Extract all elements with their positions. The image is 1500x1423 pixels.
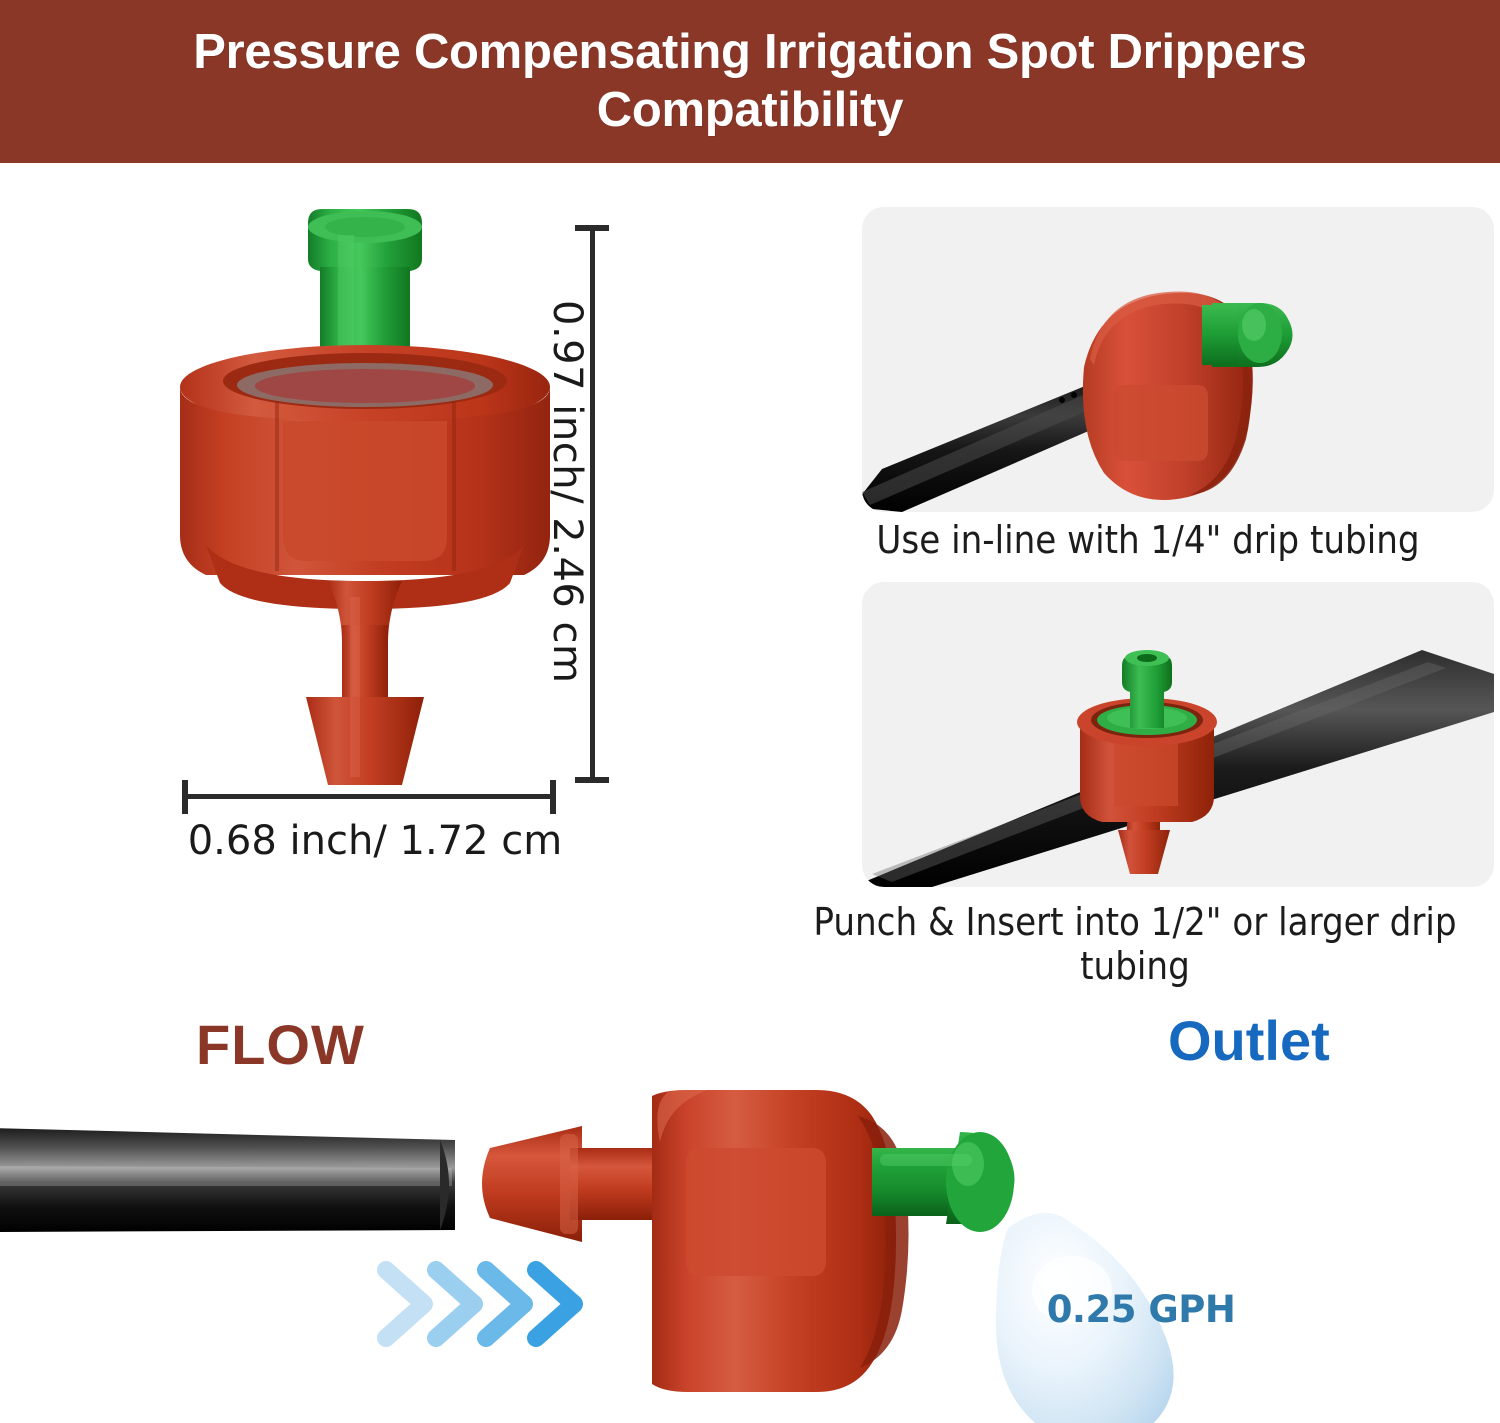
dimension-line-horizontal (182, 794, 556, 799)
use-in-line-caption: Use in-line with 1/4" drip tubing (798, 518, 1498, 562)
flow-direction-chevrons (386, 1270, 574, 1338)
flow-rate-label: 0.25 GPH (1010, 1288, 1272, 1331)
red-inlet-barb-bottom (482, 1126, 658, 1242)
dripper-body-bottom (652, 1090, 909, 1392)
dimension-width-label: 0.68 inch/ 1.72 cm (175, 818, 575, 864)
dimension-height-label: 0.97 inch/ 2.46 cm (544, 300, 590, 684)
header-banner: Pressure Compensating Irrigation Spot Dr… (0, 0, 1500, 163)
product-figure (150, 205, 580, 805)
dimension-cap-right (550, 780, 556, 814)
dimension-cap-left (182, 780, 188, 814)
punch-insert-illustration (862, 582, 1494, 887)
dimension-cap-bottom (575, 777, 609, 783)
outlet-label: Outlet (1168, 1008, 1330, 1073)
dimension-cap-top (575, 225, 609, 231)
page-title: Pressure Compensating Irrigation Spot Dr… (80, 24, 1420, 140)
black-drip-tubing (0, 1128, 455, 1232)
green-outlet-barb (1202, 303, 1293, 367)
bottom-assembly-illustration (0, 1090, 1500, 1423)
use-in-line-panel (862, 207, 1494, 512)
flow-label: FLOW (196, 1012, 365, 1077)
dripper-illustration (150, 205, 580, 785)
punch-insert-caption: Punch & Insert into 1/2" or larger drip … (785, 900, 1485, 988)
red-outlet-barb (306, 581, 424, 785)
dimension-line-vertical (590, 225, 595, 783)
inline-install-illustration (862, 207, 1494, 512)
dripper-on-tube (1077, 650, 1217, 874)
punch-and-insert-panel (862, 582, 1494, 887)
